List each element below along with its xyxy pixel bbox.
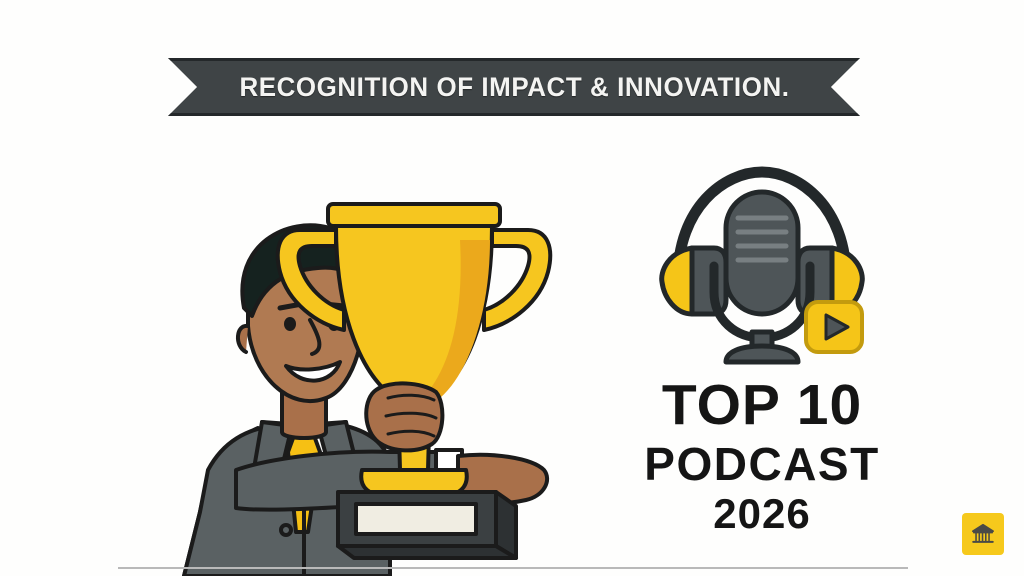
earcup-left-housing bbox=[692, 248, 726, 314]
trophy-rim bbox=[328, 204, 500, 226]
trophy-base-bottom bbox=[338, 546, 516, 558]
mic-capsule bbox=[726, 192, 798, 314]
podcast-award-block: TOP 10 PODCAST 2026 bbox=[612, 160, 912, 536]
bottom-divider bbox=[118, 567, 908, 569]
headline-banner: RECOGNITION OF IMPACT & INNOVATION. bbox=[168, 58, 860, 116]
slide-canvas: RECOGNITION OF IMPACT & INNOVATION. bbox=[0, 0, 1024, 576]
ear bbox=[238, 326, 248, 352]
trophy-handle-right bbox=[484, 230, 550, 330]
businessman-with-trophy-illustration bbox=[140, 140, 600, 576]
banner-title: RECOGNITION OF IMPACT & INNOVATION. bbox=[239, 72, 789, 103]
podcast-title-line2: PODCAST bbox=[644, 440, 879, 488]
microphone-headphones-illustration bbox=[652, 160, 872, 365]
podcast-title-line1: TOP 10 bbox=[662, 377, 862, 434]
mic-stand-base bbox=[726, 346, 798, 362]
institution-logo-badge[interactable] bbox=[962, 513, 1004, 555]
podcast-title-line3: 2026 bbox=[713, 492, 810, 536]
bank-building-icon bbox=[970, 521, 996, 547]
trophy-nameplate bbox=[356, 504, 476, 534]
banner-ribbon: RECOGNITION OF IMPACT & INNOVATION. bbox=[168, 58, 860, 116]
earcup-left-pad bbox=[662, 248, 692, 314]
eye-left bbox=[284, 317, 296, 331]
jacket-button bbox=[281, 525, 291, 535]
